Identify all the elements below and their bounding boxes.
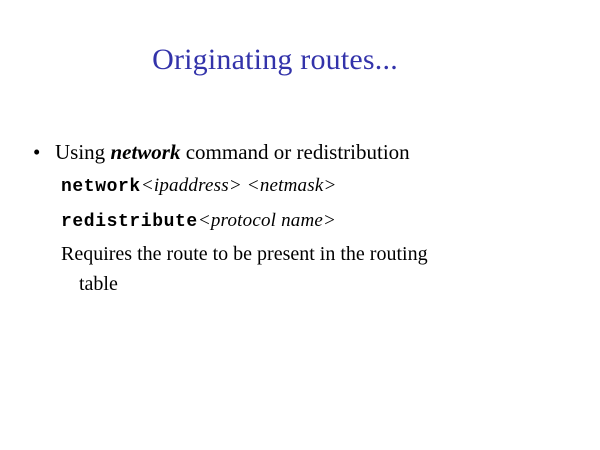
bullet-item-1: • Using network command or redistributio…	[0, 136, 600, 169]
command-keyword-redistribute: redistribute	[61, 212, 198, 232]
command-line-redistribute: redistribute<protocol name>	[0, 204, 600, 239]
command-line-network: network<ipaddress> <netmask>	[0, 169, 600, 204]
slide-body: • Using network command or redistributio…	[0, 136, 600, 299]
note-paragraph-line-1: Requires the route to be present in the …	[61, 239, 515, 269]
page-title: Originating routes...	[40, 42, 510, 78]
bullet-text-segment-keyword: network	[110, 140, 180, 164]
bullet-point-icon: •	[33, 136, 47, 169]
note-paragraph-line-2: table	[61, 269, 515, 299]
command-arguments-redistribute: <protocol name>	[198, 210, 336, 231]
bullet-item-1-text: Using network command or redistribution	[55, 140, 410, 164]
slide-canvas: Originating routes... • Using network co…	[0, 0, 600, 450]
bullet-text-segment-lead: Using	[55, 140, 110, 164]
command-keyword-network: network	[61, 177, 141, 197]
command-arguments-network: <ipaddress> <netmask>	[141, 175, 337, 196]
bullet-text-segment-tail: command or redistribution	[180, 140, 409, 164]
note-paragraph: Requires the route to be present in the …	[61, 239, 515, 299]
